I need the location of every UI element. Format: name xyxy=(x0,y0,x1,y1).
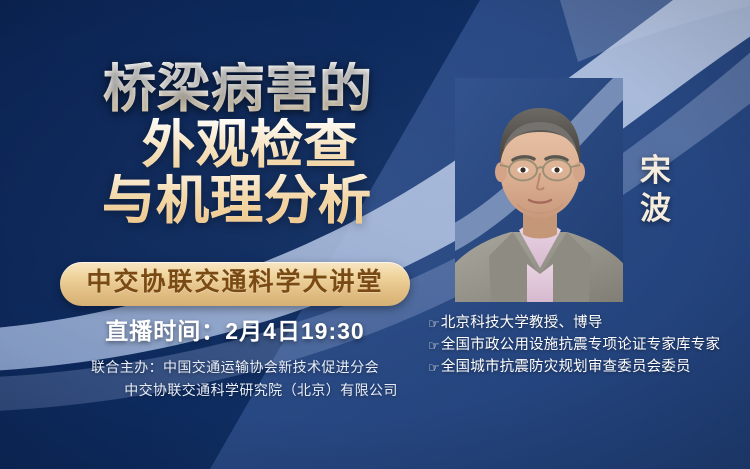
page-title: 桥梁病害的 外观检查 与机理分析 xyxy=(0,62,470,227)
webinar-poster: 桥梁病害的 外观检查 与机理分析 中交协联交通科学大讲堂 直播时间：2月4日19… xyxy=(0,0,750,469)
speaker-credentials-list: ☞ 北京科技大学教授、博导 ☞ 全国市政公用设施抗震专项论证专家库专家 ☞ 全国… xyxy=(428,313,750,378)
credential-text: 全国城市抗震防灾规划审查委员会委员 xyxy=(441,357,691,379)
live-time-text: 直播时间：2月4日19:30 xyxy=(0,312,470,346)
credential-text: 北京科技大学教授、博导 xyxy=(441,313,603,335)
speaker-photo xyxy=(455,78,623,302)
title-line-3: 与机理分析 xyxy=(0,174,470,227)
organizer-line-1: 联合主办：中国交通运输协会新技术促进分会 xyxy=(0,356,470,379)
left-content-column: 桥梁病害的 外观检查 与机理分析 中交协联交通科学大讲堂 直播时间：2月4日19… xyxy=(0,0,470,469)
credential-row: ☞ 全国市政公用设施抗震专项论证专家库专家 xyxy=(428,335,750,357)
speaker-portrait-illustration xyxy=(455,78,623,302)
organizers-block: 联合主办：中国交通运输协会新技术促进分会 中交协联交通科学研究院（北京）有限公司 xyxy=(0,356,470,402)
speaker-name-char-2: 波 xyxy=(628,190,684,228)
speaker-name-char-1: 宋 xyxy=(628,152,684,190)
organizer-line-2: 中交协联交通科学研究院（北京）有限公司 xyxy=(0,379,470,402)
banner-pill-wrapper: 中交协联交通科学大讲堂 xyxy=(0,262,470,306)
speaker-name: 宋 波 xyxy=(628,152,684,228)
pointing-hand-icon: ☞ xyxy=(428,314,440,334)
title-line-2: 外观检查 xyxy=(0,118,470,171)
credential-text: 全国市政公用设施抗震专项论证专家库专家 xyxy=(441,335,720,357)
title-line-1: 桥梁病害的 xyxy=(0,62,470,115)
pointing-hand-icon: ☞ xyxy=(428,336,440,356)
credential-row: ☞ 北京科技大学教授、博导 xyxy=(428,313,750,335)
pointing-hand-icon: ☞ xyxy=(428,358,440,378)
credential-row: ☞ 全国城市抗震防灾规划审查委员会委员 xyxy=(428,357,750,379)
series-banner-pill: 中交协联交通科学大讲堂 xyxy=(60,262,409,306)
